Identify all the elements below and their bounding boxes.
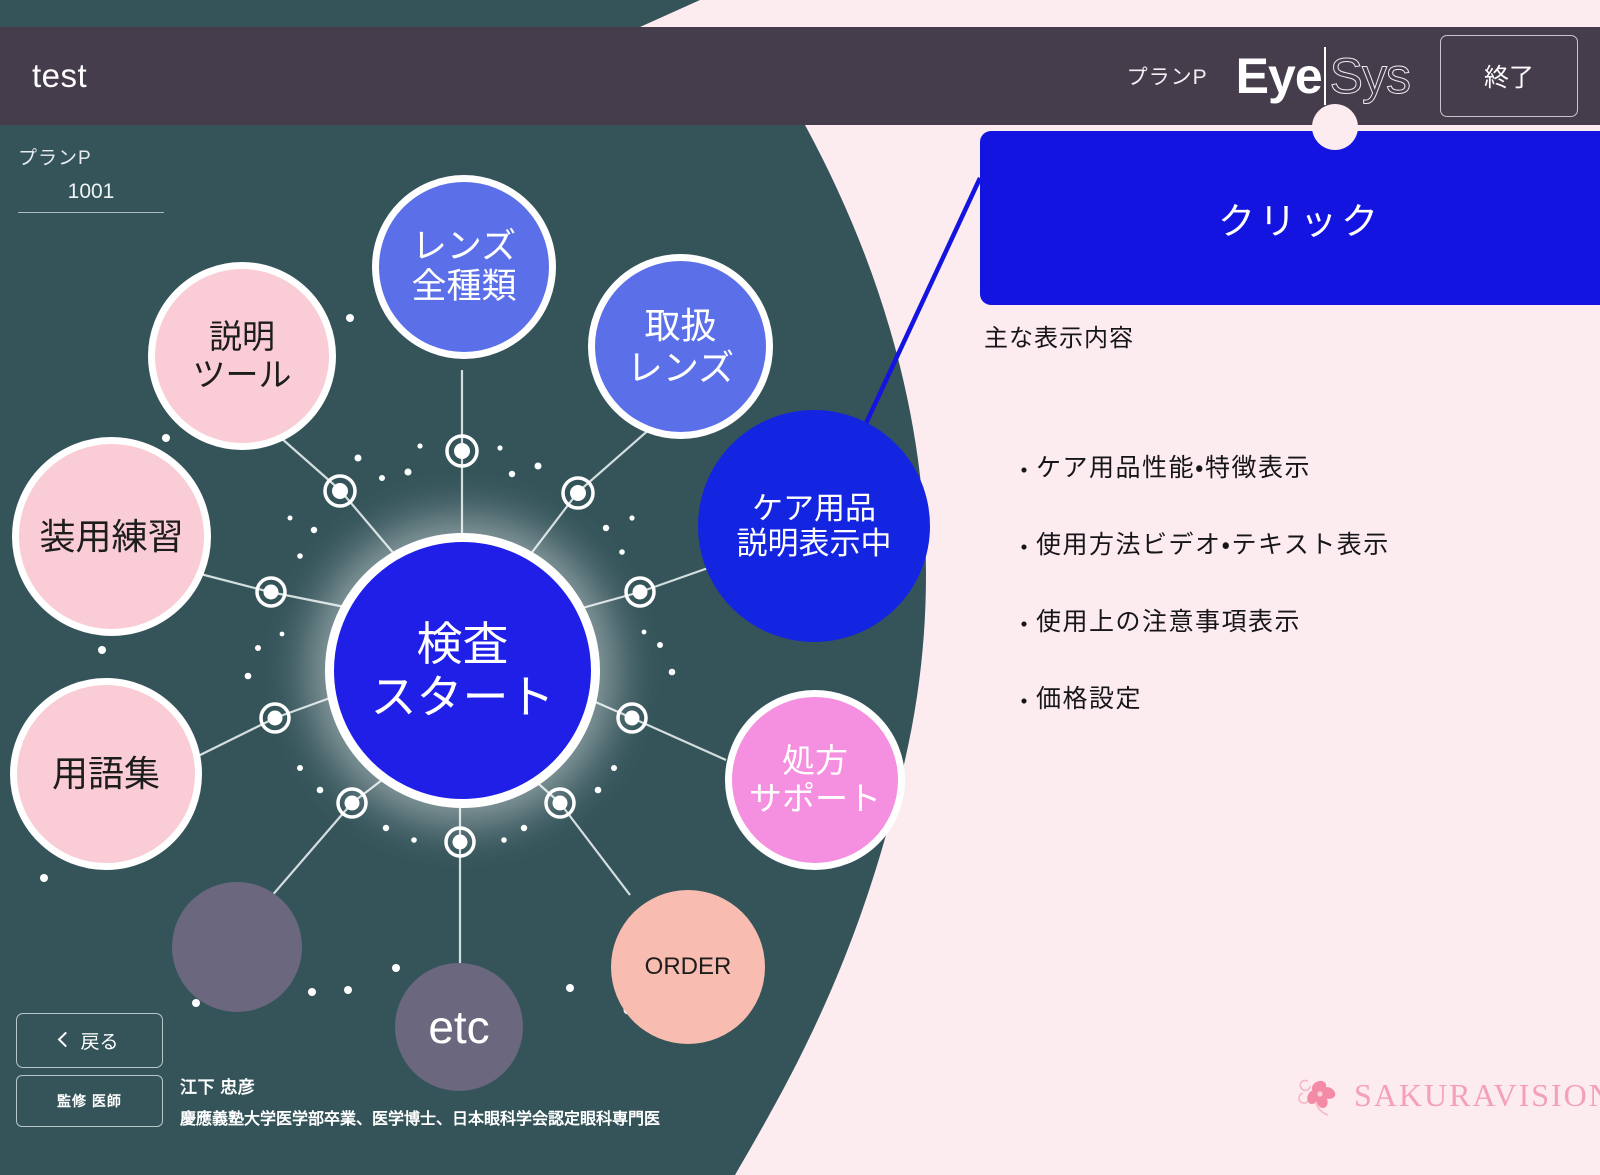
- header-plan-badge: プランP: [1127, 61, 1208, 91]
- bubble-toriatsukai-lens-line1: 取扱: [627, 305, 734, 346]
- bubble-setsumei-tool[interactable]: 説明 ツール: [148, 262, 336, 450]
- center-bubble-line2: スタート: [371, 671, 555, 723]
- bubble-care-goods-line1: ケア用品: [737, 491, 892, 526]
- panel-subheading: 主な表示内容: [984, 318, 1134, 353]
- list-item: ・ 価格設定: [1012, 686, 1390, 715]
- bubble-yougoshuu-line1: 用語集: [52, 753, 160, 794]
- app-header: test プランP Eye Sys 終了: [0, 27, 1600, 125]
- bubble-shohou-support[interactable]: 処方 サポート: [725, 690, 905, 870]
- bubble-order-line1: ORDER: [645, 953, 732, 980]
- logo-notch-shape: [1312, 104, 1358, 150]
- click-callout-label: クリック: [1218, 191, 1382, 245]
- bubble-order[interactable]: ORDER: [611, 890, 765, 1044]
- bubble-setsumei-tool-line2: ツール: [193, 356, 292, 394]
- bubble-souyou-renshuu[interactable]: 装用練習: [12, 437, 211, 636]
- sakuravision-wordmark: SAKURAVISION: [1354, 1077, 1600, 1114]
- bubble-care-goods-line2: 説明表示中: [737, 526, 892, 561]
- bubble-setsumei-tool-line1: 説明: [193, 318, 292, 356]
- logo-eye-text: Eye: [1236, 51, 1322, 101]
- bullet-marker-icon: ・: [1012, 686, 1036, 715]
- bullet-marker-icon: ・: [1012, 455, 1036, 484]
- bubble-etc-line1: etc: [428, 1001, 489, 1053]
- bubble-shohou-support-line1: 処方: [749, 742, 881, 780]
- eyesys-logo: Eye Sys: [1236, 47, 1410, 105]
- center-bubble-line1: 検査: [371, 618, 555, 670]
- bullet-marker-icon: ・: [1012, 532, 1036, 561]
- plan-info-label: プランP: [18, 143, 164, 170]
- bubble-etc[interactable]: etc: [395, 963, 523, 1091]
- bullet-text: 使用方法ビデオ・テキスト表示: [1036, 532, 1390, 560]
- doctor-credentials: 慶應義塾大学医学部卒業、医学博士、日本眼科学会認定眼科専門医: [180, 1105, 660, 1129]
- sakuravision-logo: SAKURAVISION: [1292, 1073, 1600, 1117]
- logo-sys-text: Sys: [1330, 51, 1410, 101]
- bubble-souyou-renshuu-line1: 装用練習: [39, 516, 183, 557]
- bullet-text: ケア用品性能・特徴表示: [1036, 455, 1311, 483]
- list-item: ・ ケア用品性能・特徴表示: [1012, 455, 1390, 484]
- bubble-lens-all[interactable]: レンズ 全種類: [372, 175, 556, 359]
- panel-bullet-list: ・ ケア用品性能・特徴表示 ・ 使用方法ビデオ・テキスト表示 ・ 使用上の注意事…: [1012, 455, 1390, 763]
- doctor-supervision-button[interactable]: 監修 医師: [16, 1075, 163, 1127]
- bubble-lens-all-line1: レンズ: [411, 227, 516, 267]
- list-item: ・ 使用方法ビデオ・テキスト表示: [1012, 532, 1390, 561]
- logo-divider-icon: [1324, 47, 1326, 105]
- bubble-toriatsukai-lens-line2: レンズ: [627, 347, 734, 388]
- center-bubble-start-exam[interactable]: 検査 スタート: [325, 533, 600, 808]
- bubble-toriatsukai-lens[interactable]: 取扱 レンズ: [588, 254, 773, 439]
- app-root: test プランP Eye Sys 終了 プランP 1001 検査 スタート: [0, 0, 1600, 1175]
- bullet-marker-icon: ・: [1012, 609, 1036, 638]
- exit-button[interactable]: 終了: [1440, 35, 1578, 117]
- header-right-group: プランP Eye Sys 終了: [1127, 35, 1600, 117]
- list-item: ・ 使用上の注意事項表示: [1012, 609, 1390, 638]
- plan-info: プランP 1001: [18, 143, 164, 213]
- bullet-text: 価格設定: [1036, 686, 1142, 714]
- click-callout-box[interactable]: クリック: [980, 131, 1600, 305]
- chevron-left-icon: [58, 1032, 74, 1048]
- bubble-lens-all-line2: 全種類: [411, 267, 516, 307]
- back-button[interactable]: 戻る: [16, 1013, 163, 1068]
- bubble-shohou-support-line2: サポート: [749, 780, 881, 818]
- bubble-care-goods-active[interactable]: ケア用品 説明表示中: [698, 410, 930, 642]
- bubble-placeholder[interactable]: [172, 882, 302, 1012]
- plan-info-number: 1001: [18, 180, 164, 213]
- back-button-label: 戻る: [80, 1027, 118, 1054]
- bullet-text: 使用上の注意事項表示: [1036, 609, 1301, 637]
- doctor-name: 江下 忠彦: [180, 1073, 660, 1098]
- cherry-blossom-icon: [1292, 1073, 1348, 1117]
- page-title: test: [32, 57, 87, 95]
- bubble-yougoshuu[interactable]: 用語集: [10, 678, 202, 870]
- doctor-info: 江下 忠彦 慶應義塾大学医学部卒業、医学博士、日本眼科学会認定眼科専門医: [180, 1073, 660, 1129]
